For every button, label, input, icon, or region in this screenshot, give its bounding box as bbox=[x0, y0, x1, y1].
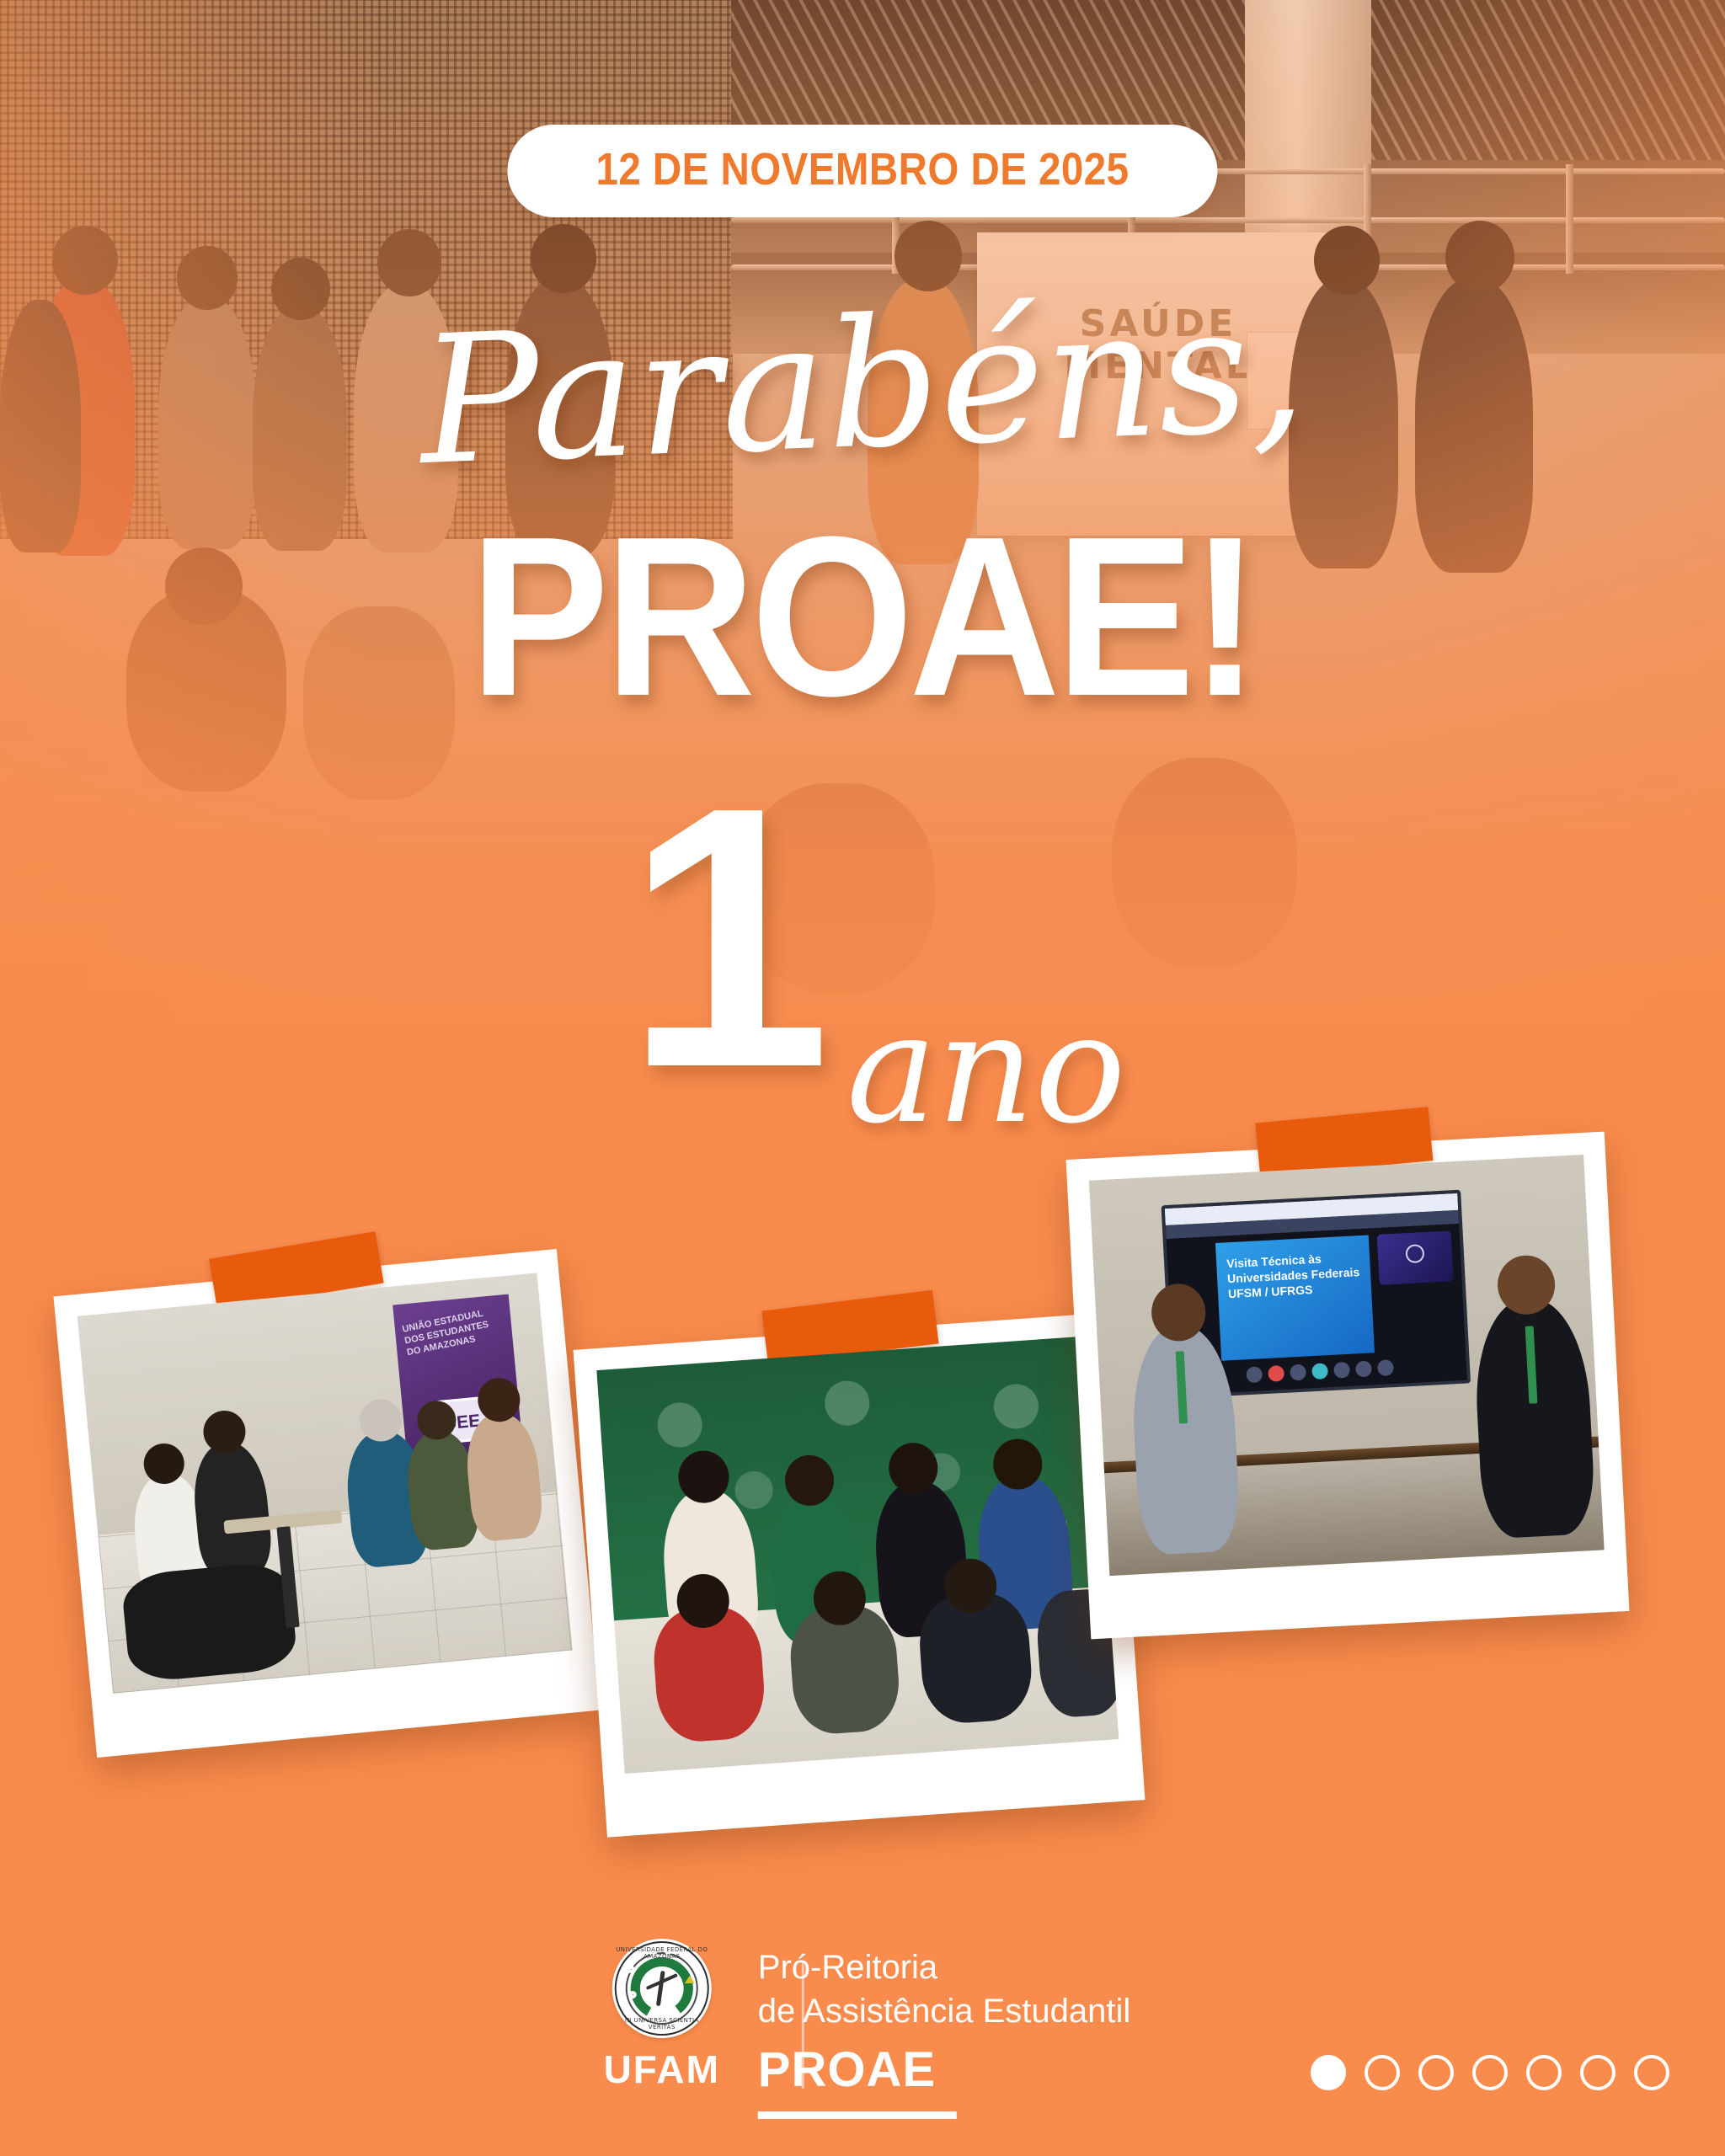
seated-person bbox=[462, 1410, 545, 1542]
ufam-logo-block: UNIVERSIDADE FEDERAL DO AMAZONAS IN UNIV… bbox=[595, 1939, 729, 2092]
carousel-dot-6[interactable] bbox=[1580, 2055, 1616, 2090]
chat-icon bbox=[1333, 1362, 1350, 1379]
footer-bar: UNIVERSIDADE FEDERAL DO AMAZONAS IN UNIV… bbox=[0, 1920, 1725, 2156]
leave-call-icon bbox=[1268, 1365, 1284, 1382]
share-screen-icon bbox=[1311, 1363, 1328, 1380]
seated-person bbox=[120, 1561, 298, 1684]
unit-line-1: Pró-Reitoria bbox=[758, 1945, 1130, 1989]
person-staff bbox=[1471, 1296, 1597, 1540]
seated-person bbox=[190, 1439, 275, 1580]
uee-banner-title: UNIÃO ESTADUAL DOS ESTUDANTES DO AMAZONA… bbox=[402, 1305, 506, 1359]
seal-figure bbox=[644, 1969, 681, 2008]
unit-acronym: PROAE bbox=[758, 2041, 1130, 2098]
seal-berry bbox=[629, 1991, 637, 1999]
headline-main: PROAE! bbox=[470, 504, 1256, 731]
photo-frame-group: UFAM bbox=[596, 1336, 1119, 1774]
more-options-icon bbox=[1377, 1359, 1394, 1376]
seal-text-bottom: IN UNIVERSA SCIENTIA VERITAS bbox=[612, 2017, 712, 2031]
proae-text-block: Pró-Reitoria de Assistência Estudantil P… bbox=[758, 1939, 1130, 2119]
participant-avatar bbox=[1405, 1244, 1424, 1263]
photo-frame-visit: Visita Técnica às Universidades Federais… bbox=[1089, 1155, 1605, 1576]
ufam-seal-icon: UNIVERSIDADE FEDERAL DO AMAZONAS IN UNIV… bbox=[612, 1939, 712, 2038]
brand-lockup: UNIVERSIDADE FEDERAL DO AMAZONAS IN UNIV… bbox=[595, 1939, 1130, 2119]
date-badge: 12 DE NOVEMBRO DE 2025 bbox=[507, 125, 1217, 217]
slide-content: Visita Técnica às Universidades Federais… bbox=[1215, 1235, 1375, 1360]
participants-icon bbox=[1355, 1360, 1372, 1377]
anniversary-number: 1 bbox=[625, 775, 831, 1101]
polaroid-photo-visit[interactable]: Visita Técnica às Universidades Federais… bbox=[1066, 1132, 1630, 1640]
carousel-indicator[interactable] bbox=[1311, 2055, 1669, 2090]
carousel-dot-1[interactable] bbox=[1311, 2055, 1346, 2090]
polaroid-photo-meeting[interactable]: UNIÃO ESTADUAL DOS ESTUDANTES DO AMAZONA… bbox=[53, 1249, 600, 1758]
meeting-controls bbox=[1246, 1359, 1394, 1383]
unit-line-2: de Assistência Estudantil bbox=[758, 1989, 1130, 2033]
date-badge-label: 12 DE NOVEMBRO DE 2025 bbox=[596, 143, 1130, 195]
headline-script: Parabéns, bbox=[417, 280, 1308, 490]
seal-berry bbox=[628, 1966, 635, 1973]
ufam-wordmark: UFAM bbox=[604, 2047, 720, 2092]
underline-rule bbox=[758, 2111, 957, 2119]
carousel-dot-2[interactable] bbox=[1365, 2055, 1400, 2090]
carousel-dot-5[interactable] bbox=[1526, 2055, 1562, 2090]
carousel-dot-4[interactable] bbox=[1472, 2055, 1508, 2090]
mic-icon bbox=[1246, 1366, 1263, 1383]
carousel-dot-3[interactable] bbox=[1418, 2055, 1454, 2090]
carousel-dot-7[interactable] bbox=[1634, 2055, 1669, 2090]
camera-icon bbox=[1290, 1364, 1306, 1381]
brand-divider bbox=[802, 1961, 804, 2089]
participant-tile bbox=[1377, 1230, 1454, 1285]
photo-collage: UNIÃO ESTADUAL DOS ESTUDANTES DO AMAZONA… bbox=[0, 1120, 1725, 1920]
poster-canvas: SAÚDE MENTAL bbox=[0, 0, 1725, 2156]
photo-frame-meeting: UNIÃO ESTADUAL DOS ESTUDANTES DO AMAZONA… bbox=[77, 1273, 573, 1694]
seal-star-icon bbox=[685, 1976, 695, 1983]
slide-footnote bbox=[1229, 1303, 1362, 1310]
polaroid-photo-group[interactable]: UFAM bbox=[574, 1312, 1146, 1837]
seal-text-top: UNIVERSIDADE FEDERAL DO AMAZONAS bbox=[612, 1946, 712, 1960]
